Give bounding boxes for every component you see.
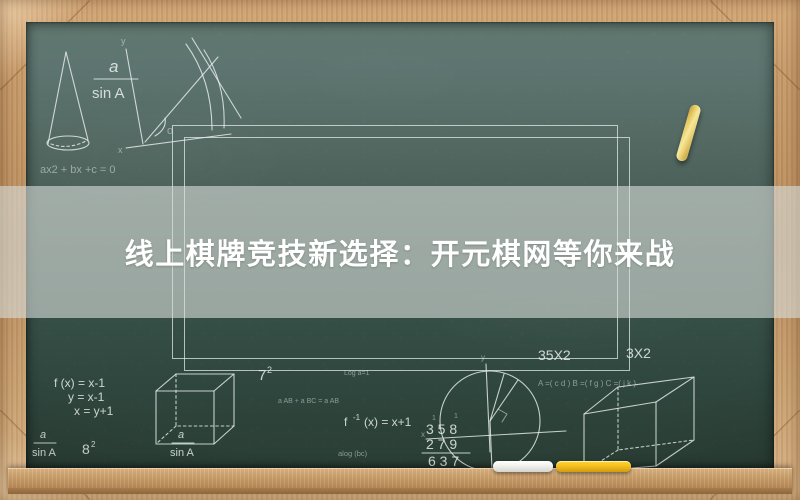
cube-drawing-left xyxy=(156,374,234,444)
svg-text:1: 1 xyxy=(454,413,458,420)
svg-text:x: x xyxy=(421,430,425,439)
quadratic-equation: ax2 + bx +c = 0 xyxy=(40,164,116,176)
svg-text:sin A: sin A xyxy=(170,447,195,459)
small-vector-equation: a AB + a BC = a AB xyxy=(278,398,339,405)
svg-text:y = x-1: y = x-1 xyxy=(68,390,105,404)
svg-text:1: 1 xyxy=(432,415,436,422)
svg-text:8: 8 xyxy=(82,441,90,457)
inverse-function-equation: f -1 (x) = x+1 xyxy=(344,413,412,429)
svg-text:x: x xyxy=(118,145,123,155)
cube-drawing-right xyxy=(584,377,694,470)
chalk-ledge-lip xyxy=(8,488,792,494)
fraction-a-over-sina-bottomleft-2: a sin A xyxy=(170,429,195,459)
function-equations: f (x) = x-1 y = x-1 x = y+1 xyxy=(54,376,114,418)
svg-text:7: 7 xyxy=(258,367,266,384)
svg-text:a: a xyxy=(178,429,184,441)
svg-text:a: a xyxy=(40,429,46,441)
svg-text:2: 2 xyxy=(91,440,96,449)
log-label: Log a=1 xyxy=(344,370,370,377)
svg-text:sin A: sin A xyxy=(92,85,125,102)
column-addition: 1 1 3 5 8 2 7 9 6 3 7 xyxy=(422,413,470,469)
angle-axis-diagram: y x o xyxy=(118,36,241,155)
svg-text:y: y xyxy=(481,353,485,362)
cone-drawing xyxy=(47,52,89,150)
svg-text:(x) = x+1: (x) = x+1 xyxy=(364,415,412,429)
svg-text:o: o xyxy=(167,125,173,137)
svg-text:3 5 8: 3 5 8 xyxy=(426,421,457,437)
svg-text:2 7 9: 2 7 9 xyxy=(426,436,457,452)
circle-axis-diagram: y x xyxy=(421,353,566,470)
svg-text:2: 2 xyxy=(267,365,272,375)
chalk-piece-white xyxy=(493,461,553,472)
eight-squared: 8 2 xyxy=(82,440,96,457)
chalk-piece-yellow xyxy=(556,461,631,472)
page-title: 线上棋牌竞技新选择：开元棋网等你来战 xyxy=(125,231,676,273)
seven-squared: 7 2 xyxy=(258,365,272,384)
svg-text:y: y xyxy=(121,36,126,46)
svg-text:6 3 7: 6 3 7 xyxy=(428,453,459,469)
svg-text:sin A: sin A xyxy=(32,447,57,459)
fraction-a-over-sina-bottomleft-1: a sin A xyxy=(32,429,57,459)
chalk-ledge xyxy=(8,468,792,494)
matrix-row: A =( c d ) B =( f g ) C =( j k ) xyxy=(538,379,636,388)
banner-stage: a sin A ax2 + bx +c = 0 y x xyxy=(0,0,800,500)
svg-text:f (x) = x-1: f (x) = x-1 xyxy=(54,376,105,390)
mult-label-2: 3X2 xyxy=(626,345,651,361)
fraction-a-over-sina-topleft: a sin A xyxy=(92,57,138,102)
svg-text:a: a xyxy=(109,57,118,76)
svg-text:-1: -1 xyxy=(353,413,361,422)
mult-label-1: 35X2 xyxy=(538,347,571,363)
svg-text:x = y+1: x = y+1 xyxy=(74,404,114,418)
headline-band: 线上棋牌竞技新选择：开元棋网等你来战 xyxy=(0,186,800,318)
svg-text:f: f xyxy=(344,415,348,429)
alog-label: alog (bc) xyxy=(338,449,368,458)
